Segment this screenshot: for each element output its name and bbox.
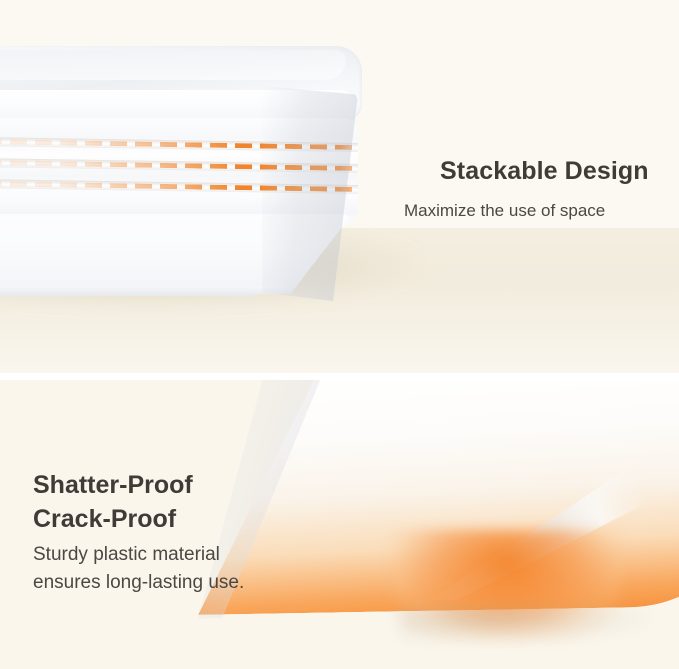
tray-cast-shadow	[400, 608, 650, 642]
panel-stackable-design: Stackable Design Maximize the use of spa…	[0, 0, 679, 373]
container-rim-inner-face	[0, 50, 346, 80]
stackable-heading: Stackable Design	[440, 157, 649, 186]
product-feature-image: Stackable Design Maximize the use of spa…	[0, 0, 679, 669]
stackable-subheading: Maximize the use of space	[404, 201, 605, 221]
container-right-shading	[262, 86, 358, 301]
stacked-containers-product	[0, 46, 370, 314]
panel-divider	[0, 373, 679, 380]
container-base-foot	[0, 286, 290, 296]
shatterproof-subheading: Sturdy plastic material ensures long-las…	[33, 541, 244, 597]
shatterproof-heading: Shatter-Proof Crack-Proof	[33, 468, 193, 536]
